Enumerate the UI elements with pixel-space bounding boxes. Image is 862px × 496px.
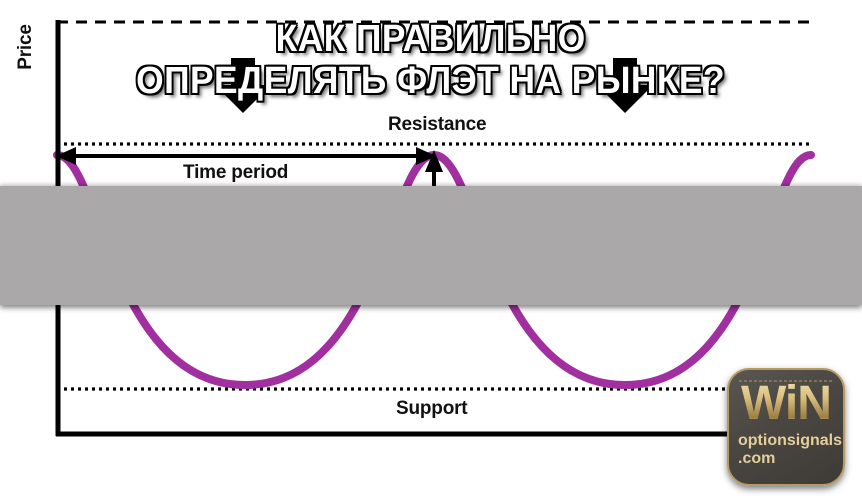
time-period-label: Time period: [183, 162, 288, 184]
screenshot-canvas: Price Resistance Time period Amplitude S…: [0, 0, 862, 496]
banner-line-2: ОПРЕДЕЛЯТЬ ФЛЭТ НА РЫНКЕ?: [137, 60, 726, 102]
banner-line-1: КАК ПРАВИЛЬНО: [276, 18, 586, 60]
logo-brand-text: WiN: [729, 378, 843, 430]
logo-domain-line-1: optionsignals: [738, 432, 834, 450]
logo-domain-line-2: .com: [738, 450, 834, 468]
brand-logo[interactable]: WiN optionsignals .com: [727, 368, 845, 486]
title-banner: [0, 186, 862, 305]
support-label: Support: [396, 398, 467, 420]
title-banner-text: КАК ПРАВИЛЬНО ОПРЕДЕЛЯТЬ ФЛЭТ НА РЫНКЕ?: [0, 0, 862, 119]
